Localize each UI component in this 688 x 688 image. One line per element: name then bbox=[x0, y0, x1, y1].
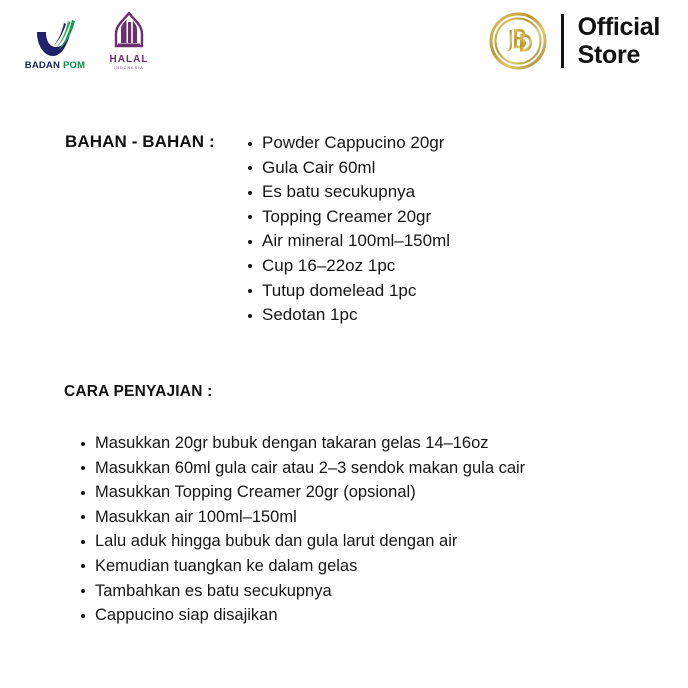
halal-subtext: INDONESIA bbox=[114, 67, 144, 71]
list-item: Masukkan 20gr bubuk dengan takaran gelas… bbox=[80, 431, 525, 456]
list-item: Masukkan Topping Creamer 20gr (opsional) bbox=[80, 480, 525, 505]
list-item: Sedotan 1pc bbox=[247, 303, 450, 328]
bpom-swoosh-icon bbox=[31, 16, 79, 60]
list-item: Tambahkan es batu secukupnya bbox=[80, 579, 525, 604]
list-item: Topping Creamer 20gr bbox=[247, 205, 450, 230]
list-item: Masukkan air 100ml–150ml bbox=[80, 505, 525, 530]
badge-divider bbox=[561, 14, 564, 68]
list-item: Masukkan 60ml gula cair atau 2–3 sendok … bbox=[80, 456, 525, 481]
list-item: Es batu secukupnya bbox=[247, 180, 450, 205]
official-store-badge: Official Store bbox=[489, 12, 660, 70]
list-item: Kemudian tuangkan ke dalam gelas bbox=[80, 554, 525, 579]
list-item: Cup 16–22oz 1pc bbox=[247, 254, 450, 279]
ingredients-list: Powder Cappucino 20gr Gula Cair 60ml Es … bbox=[247, 131, 450, 328]
halal-logo: HALAL INDONESIA bbox=[102, 12, 156, 70]
halal-gunungan-icon bbox=[109, 12, 149, 54]
bpom-word-badan: BADAN bbox=[25, 60, 60, 71]
ingredients-heading: BAHAN - BAHAN : bbox=[65, 132, 215, 152]
list-item: Gula Cair 60ml bbox=[247, 156, 450, 181]
list-item: Lalu aduk hingga bubuk dan gula larut de… bbox=[80, 529, 525, 554]
certification-logos: BADAN POM HALAL INDONESIA bbox=[22, 12, 156, 70]
official-store-text: Official Store bbox=[578, 13, 660, 69]
bpom-wordmark: BADAN POM bbox=[25, 61, 85, 71]
list-item: Powder Cappucino 20gr bbox=[247, 131, 450, 156]
list-item: Cappucino siap disajikan bbox=[80, 603, 525, 628]
official-store-line2: Store bbox=[578, 41, 660, 69]
preparation-heading: CARA PENYAJIAN : bbox=[64, 383, 212, 401]
official-store-line1: Official bbox=[578, 13, 660, 41]
list-item: Tutup domelead 1pc bbox=[247, 279, 450, 304]
preparation-steps-list: Masukkan 20gr bubuk dengan takaran gelas… bbox=[80, 431, 525, 628]
product-info-card: BADAN POM HALAL INDONESIA bbox=[0, 0, 688, 688]
halal-wordmark: HALAL bbox=[110, 55, 149, 65]
bpom-word-pom: POM bbox=[63, 60, 85, 71]
jrd-monogram-icon bbox=[489, 12, 547, 70]
list-item: Air mineral 100ml–150ml bbox=[247, 229, 450, 254]
badan-pom-logo: BADAN POM bbox=[22, 16, 88, 71]
